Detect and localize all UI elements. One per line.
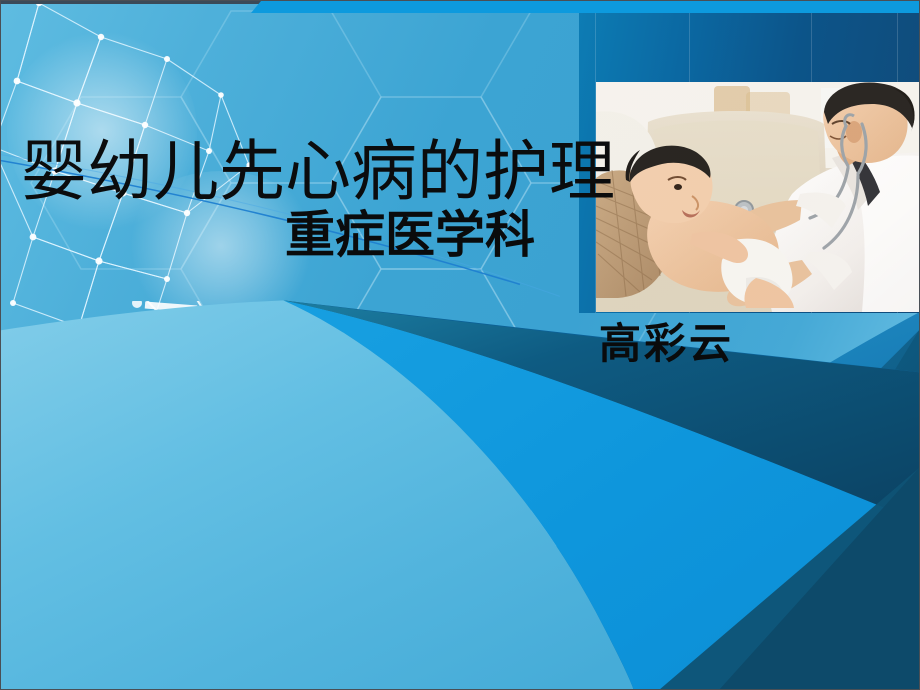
author-name: 高彩云: [599, 323, 734, 365]
top-banner-shadow: [1, 1, 263, 4]
page-subtitle: 重症医学科: [285, 210, 535, 260]
title-slide: 婴幼儿先心病的护理 重症医学科 高彩云: [0, 0, 920, 690]
hero-photo-doctor-examining-baby: [596, 82, 920, 312]
top-accent-banner: [251, 1, 919, 13]
page-title: 婴幼儿先心病的护理: [21, 139, 615, 205]
